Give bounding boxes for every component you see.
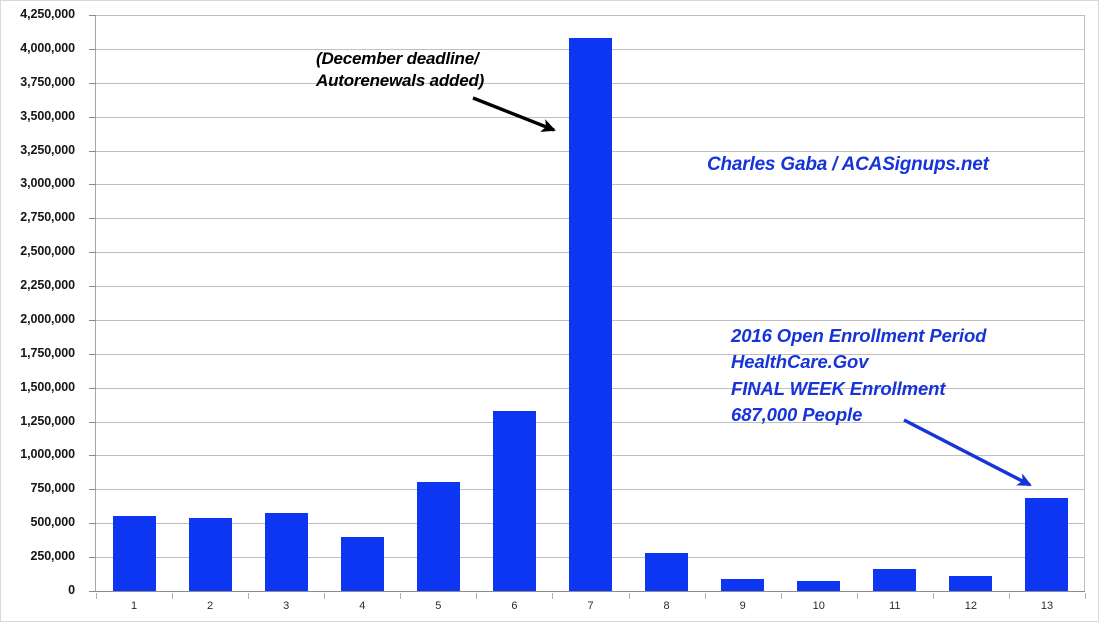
- bar: [189, 518, 232, 591]
- y-axis-labels: 4,250,0004,000,0003,750,0003,500,0003,25…: [1, 1, 87, 622]
- bar: [873, 569, 916, 591]
- y-axis-tick-label: 2,500,000: [1, 244, 75, 258]
- y-axis-tick-mark: [89, 354, 96, 355]
- x-axis-tick-mark: [629, 593, 630, 599]
- annotation-summary-line4: 687,000 People: [731, 404, 862, 425]
- bar: [569, 38, 612, 591]
- y-axis-tick-label: 3,000,000: [1, 176, 75, 190]
- y-axis-tick-mark: [89, 184, 96, 185]
- y-axis-tick-label: 1,250,000: [1, 414, 75, 428]
- y-axis-tick-mark: [89, 489, 96, 490]
- y-axis-tick-label: 1,000,000: [1, 447, 75, 461]
- y-axis-tick-mark: [89, 422, 96, 423]
- annotation-summary-line1: 2016 Open Enrollment Period: [731, 325, 986, 346]
- bar: [1025, 498, 1068, 591]
- y-axis-tick-label: 2,750,000: [1, 210, 75, 224]
- bar-chart-figure: 4,250,0004,000,0003,750,0003,500,0003,25…: [0, 0, 1099, 622]
- x-axis-tick-label: 3: [248, 600, 324, 612]
- x-axis-tick-label: 7: [553, 600, 629, 612]
- x-axis-tick-mark: [400, 593, 401, 599]
- x-axis-tick-label: 11: [857, 600, 933, 612]
- x-axis-tick-label: 9: [705, 600, 781, 612]
- annotation-credit: Charles Gaba / ACASignups.net: [707, 153, 989, 177]
- y-axis-tick-mark: [89, 557, 96, 558]
- gridline: [96, 15, 1085, 16]
- y-axis-tick-label: 3,750,000: [1, 75, 75, 89]
- y-axis-tick-label: 2,250,000: [1, 278, 75, 292]
- y-axis-tick-mark: [89, 15, 96, 16]
- x-axis-tick-mark: [476, 593, 477, 599]
- y-axis-tick-mark: [89, 320, 96, 321]
- bar: [265, 513, 308, 591]
- annotation-summary-line3: FINAL WEEK Enrollment: [731, 378, 945, 399]
- y-axis-tick-mark: [89, 252, 96, 253]
- x-axis-labels: 12345678910111213: [96, 593, 1085, 621]
- y-axis-tick-mark: [89, 388, 96, 389]
- y-axis-tick-label: 1,500,000: [1, 380, 75, 394]
- bar: [493, 411, 536, 591]
- y-axis-tick-label: 4,000,000: [1, 41, 75, 55]
- y-axis-tick-mark: [89, 117, 96, 118]
- bar: [645, 553, 688, 591]
- x-axis-tick-mark: [857, 593, 858, 599]
- annotation-december-deadline: (December deadline/ Autorenewals added): [316, 48, 484, 92]
- x-axis-tick-mark: [324, 593, 325, 599]
- plot-area: [96, 15, 1085, 591]
- y-axis-tick-mark: [89, 286, 96, 287]
- x-axis-tick-mark: [933, 593, 934, 599]
- x-axis-tick-mark: [248, 593, 249, 599]
- x-axis-tick-mark: [1009, 593, 1010, 599]
- y-axis-tick-label: 250,000: [1, 549, 75, 563]
- y-axis-tick-mark: [89, 218, 96, 219]
- bar: [949, 576, 992, 591]
- x-axis-tick-mark: [781, 593, 782, 599]
- x-axis-tick-mark: [705, 593, 706, 599]
- annotation-summary-line2: HealthCare.Gov: [731, 351, 868, 372]
- x-axis-tick-label: 1: [96, 600, 172, 612]
- bar: [417, 482, 460, 591]
- x-axis-tick-label: 4: [324, 600, 400, 612]
- y-axis-tick-label: 1,750,000: [1, 346, 75, 360]
- x-axis-tick-mark: [552, 593, 553, 599]
- x-axis-tick-label: 5: [400, 600, 476, 612]
- y-axis-tick-mark: [89, 83, 96, 84]
- x-axis-tick-label: 13: [1009, 600, 1085, 612]
- x-axis-tick-label: 2: [172, 600, 248, 612]
- y-axis-tick-label: 3,500,000: [1, 109, 75, 123]
- y-axis-tick-mark: [89, 591, 96, 592]
- annotation-summary: 2016 Open Enrollment Period HealthCare.G…: [731, 323, 986, 428]
- bar: [721, 579, 764, 591]
- y-axis-tick-label: 2,000,000: [1, 312, 75, 326]
- y-axis-tick-mark: [89, 523, 96, 524]
- x-axis-tick-label: 10: [781, 600, 857, 612]
- x-axis-tick-label: 12: [933, 600, 1009, 612]
- bar: [113, 516, 156, 591]
- y-axis-tick-label: 500,000: [1, 515, 75, 529]
- bar: [797, 581, 840, 591]
- y-axis-tick-mark: [89, 455, 96, 456]
- bar: [341, 537, 384, 591]
- x-axis-tick-label: 8: [629, 600, 705, 612]
- y-axis-tick-label: 750,000: [1, 481, 75, 495]
- y-axis-tick-mark: [89, 151, 96, 152]
- annotation-december-line2: Autorenewals added): [316, 71, 484, 90]
- x-axis-tick-mark: [172, 593, 173, 599]
- x-axis-tick-mark: [96, 593, 97, 599]
- y-axis-tick-mark: [89, 49, 96, 50]
- x-axis-line: [89, 591, 1085, 592]
- y-axis-tick-label: 0: [1, 583, 75, 597]
- y-axis-tick-label: 3,250,000: [1, 143, 75, 157]
- x-axis-tick-label: 6: [476, 600, 552, 612]
- y-axis-tick-label: 4,250,000: [1, 7, 75, 21]
- annotation-december-line1: (December deadline/: [316, 49, 478, 68]
- x-axis-tick-mark: [1085, 593, 1086, 599]
